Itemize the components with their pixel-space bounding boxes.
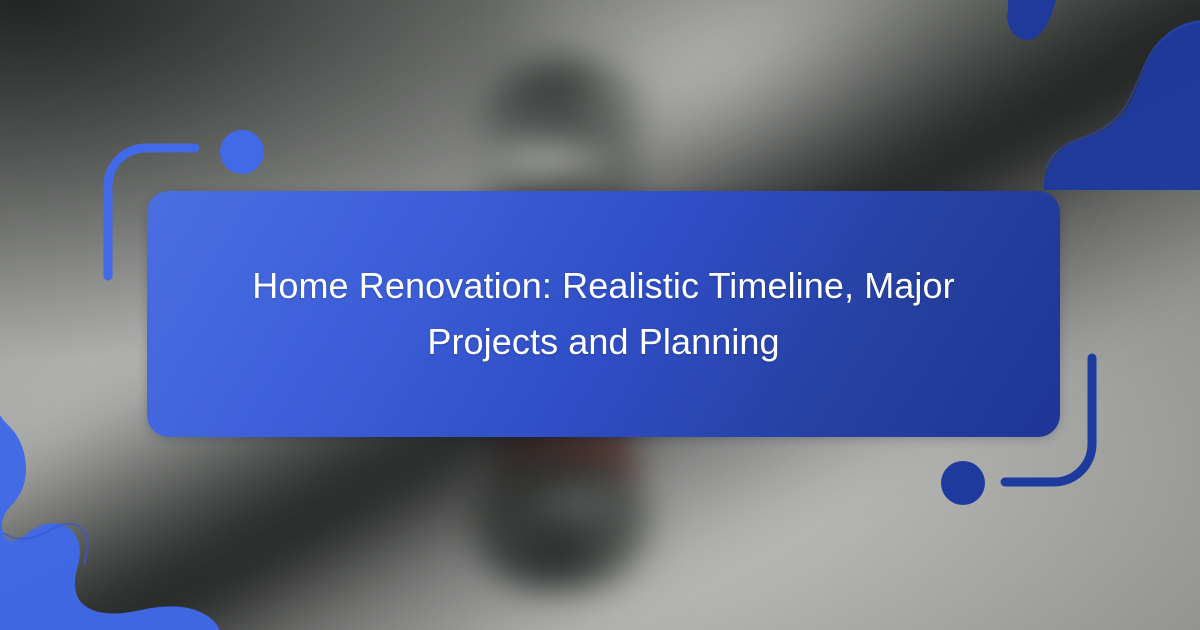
- blob-top-right: [1000, 0, 1200, 190]
- blob-bottom-left: [0, 415, 220, 630]
- title-card: Home Renovation: Realistic Timeline, Maj…: [147, 191, 1060, 437]
- page-title: Home Renovation: Realistic Timeline, Maj…: [224, 258, 984, 370]
- social-card-canvas: Home Renovation: Realistic Timeline, Maj…: [0, 0, 1200, 630]
